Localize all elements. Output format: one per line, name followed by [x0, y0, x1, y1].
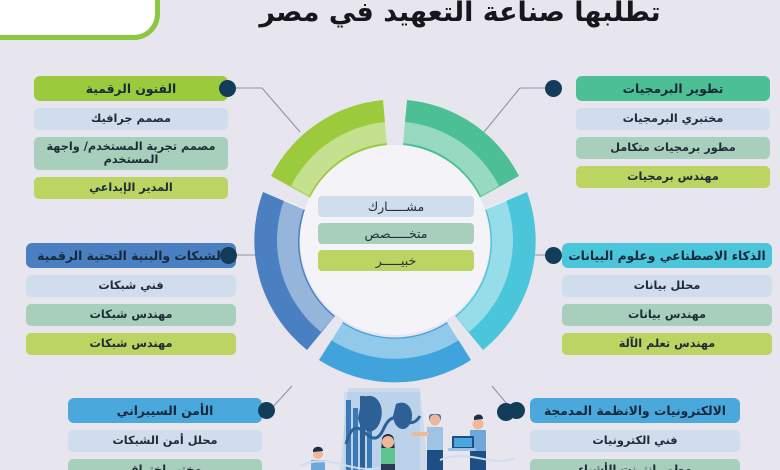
branch-ai-data-item-1[interactable]: مهندس بيانات	[562, 304, 772, 326]
branch-software-dev-title: تطوير البرمجيات	[576, 76, 770, 101]
branch-cybersecurity[interactable]: الأمن السيبراني محلل أمن الشبكات مختبر ا…	[68, 398, 262, 470]
illustration-person-woman	[381, 434, 395, 470]
branch-ai-data[interactable]: الذكاء الاصطناعي وعلوم البيانات محلل بيا…	[562, 243, 772, 355]
connector-dot-ai-data	[545, 247, 562, 264]
branch-digital-arts-item-2[interactable]: المدير الإبداعي	[34, 177, 228, 199]
branch-ai-data-item-0[interactable]: محلل بيانات	[562, 275, 772, 297]
branch-software-dev-item-0[interactable]: مختبري البرمجيات	[576, 108, 770, 130]
branch-ai-data-item-2[interactable]: مهندس تعلم الآلة	[562, 333, 772, 355]
branch-networks-title: الشبكات والبنية التحتية الرقمية	[26, 243, 236, 268]
legend-chip-khabir: خبيـــــر	[318, 250, 474, 271]
branch-ai-data-title: الذكاء الاصطناعي وعلوم البيانات	[562, 243, 772, 268]
infographic-canvas: tarmeez تطلبها صناعة التعهيد في مصر	[0, 0, 780, 470]
branch-digital-arts-item-1[interactable]: مصمم تجربة المستخدم/ واجهة المستخدم	[34, 137, 228, 170]
branch-cybersecurity-item-1[interactable]: مختبر اختراق	[68, 459, 262, 470]
branch-electronics-item-1[interactable]: مطور إنترنت الأشياء	[530, 459, 740, 470]
branch-networks-item-0[interactable]: فني شبكات	[26, 275, 236, 297]
branch-digital-arts[interactable]: الفنون الرقمية مصمم جرافيك مصمم تجربة ال…	[34, 76, 228, 199]
branch-networks[interactable]: الشبكات والبنية التحتية الرقمية فني شبكا…	[26, 243, 236, 355]
connector-dot-software-dev	[545, 80, 562, 97]
branch-electronics[interactable]: الالكترونيات والانظمة المدمجة فني الكترو…	[530, 398, 740, 470]
branch-networks-item-1[interactable]: مهندس شبكات	[26, 304, 236, 326]
branch-software-dev-item-1[interactable]: مطور برمجيات متكامل	[576, 137, 770, 159]
branch-software-dev-item-2[interactable]: مهندس برمجيات	[576, 166, 770, 188]
branch-software-dev[interactable]: تطوير البرمجيات مختبري البرمجيات مطور بر…	[576, 76, 770, 188]
illustration-person-right	[448, 415, 486, 470]
connector-dot-networks	[220, 247, 237, 264]
branch-electronics-item-0[interactable]: فني الكترونيات	[530, 430, 740, 452]
branch-cybersecurity-title: الأمن السيبراني	[68, 398, 262, 423]
page-title: تطلبها صناعة التعهيد في مصر	[160, 0, 760, 30]
brand-logo: tarmeez	[0, 0, 160, 40]
center-legend: مشـــــارك متخـــــصص خبيـــــر	[318, 196, 474, 271]
branch-cybersecurity-item-0[interactable]: محلل أمن الشبكات	[68, 430, 262, 452]
branch-digital-arts-title: الفنون الرقمية	[34, 76, 228, 101]
team-analytics-illustration	[300, 382, 515, 470]
branch-networks-item-2[interactable]: مهندس شبكات	[26, 333, 236, 355]
legend-chip-musharik: مشـــــارك	[318, 196, 474, 217]
legend-chip-mutakhassis: متخـــــصص	[318, 223, 474, 244]
connector-dot-digital-arts	[219, 80, 236, 97]
connector-dot-cybersecurity	[258, 402, 275, 419]
branch-digital-arts-item-0[interactable]: مصمم جرافيك	[34, 108, 228, 130]
illustration-person-left	[311, 447, 325, 470]
branch-electronics-title: الالكترونيات والانظمة المدمجة	[530, 398, 740, 423]
